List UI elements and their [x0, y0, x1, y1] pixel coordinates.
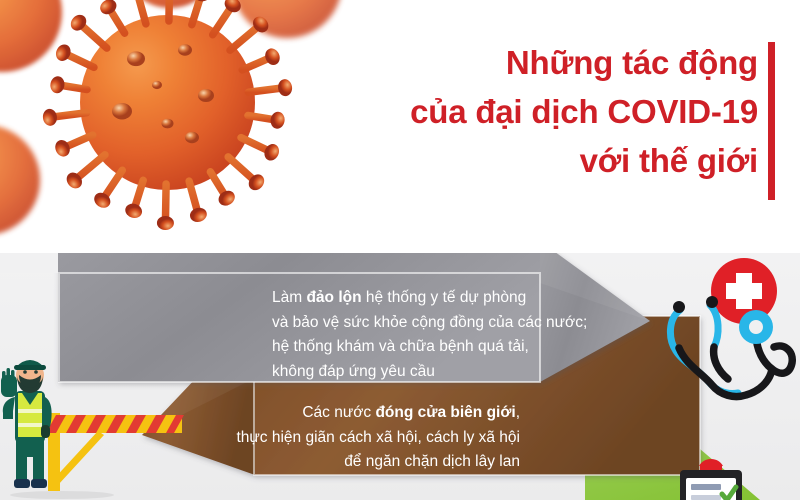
- virus-spike-knob: [269, 111, 286, 130]
- virus-spike-knob: [49, 75, 66, 94]
- virus-surface-pore: [178, 44, 192, 55]
- stethoscope-icon: [646, 255, 800, 405]
- stethoscope-earpiece-left: [673, 301, 685, 313]
- arrow-health-system-text: Làm đảo lộn hệ thống y tế dự phòngvà bảo…: [272, 286, 587, 384]
- header-band: Những tác động của đại dịch COVID-19 với…: [0, 0, 800, 255]
- panel-notch: [0, 253, 58, 273]
- content-panel: Làm đảo lộn hệ thống y tế dự phòngvà bảo…: [0, 253, 800, 500]
- virus-spike-knob: [188, 206, 208, 224]
- virus-surface-pore: [185, 132, 199, 143]
- virus-spike: [192, 0, 202, 25]
- infographic-canvas: Những tác động của đại dịch COVID-19 với…: [0, 0, 800, 500]
- clipboard-check-icon: [672, 458, 750, 500]
- virus-spike-knob: [263, 46, 283, 67]
- text-line: Làm đảo lộn hệ thống y tế dự phòng: [272, 286, 587, 311]
- virus-surface-pore: [162, 119, 174, 129]
- virus-spike: [169, 0, 170, 21]
- text-line: không đáp ứng yêu cầu: [272, 360, 587, 385]
- text-line: và bảo vệ sức khỏe cộng đồng của các nướ…: [272, 311, 587, 336]
- text-line: để ngăn chặn dịch lây lan: [222, 450, 520, 475]
- virus-spike-knob: [123, 202, 143, 220]
- title-line-1: Những tác động: [328, 38, 758, 87]
- title-line-3: với thế giới: [328, 136, 758, 185]
- title-accent-bar: [768, 42, 775, 200]
- arrow-border-closure-text: Các nước đóng cửa biên giới,thực hiện gi…: [222, 401, 520, 475]
- virus-spike-knob: [157, 216, 174, 230]
- text-line: Các nước đóng cửa biên giới,: [222, 401, 520, 426]
- virus-surface-pore: [152, 81, 162, 89]
- virus-spike-knob: [277, 78, 293, 97]
- guard-figure: [1, 360, 52, 488]
- text-line: hệ thống khám và chữa bệnh quá tải,: [272, 335, 587, 360]
- virus-spike-knob: [53, 138, 73, 159]
- guard-stop-hand: [1, 368, 17, 397]
- virus-spike-knob: [42, 108, 58, 127]
- virus-surface-pore: [198, 89, 214, 102]
- virus-surface-pore: [127, 51, 145, 66]
- stethoscope-earpiece-right: [706, 296, 718, 308]
- virus-surface-pore: [112, 103, 132, 119]
- text-line: thực hiện giãn cách xã hội, cách ly xã h…: [222, 426, 520, 451]
- title-line-2: của đại dịch COVID-19: [328, 87, 758, 136]
- barrier-boom: [46, 415, 184, 433]
- barrier-guard-icon: [0, 331, 200, 500]
- page-title: Những tác động của đại dịch COVID-19 với…: [328, 38, 758, 185]
- virus-spike: [137, 0, 146, 24]
